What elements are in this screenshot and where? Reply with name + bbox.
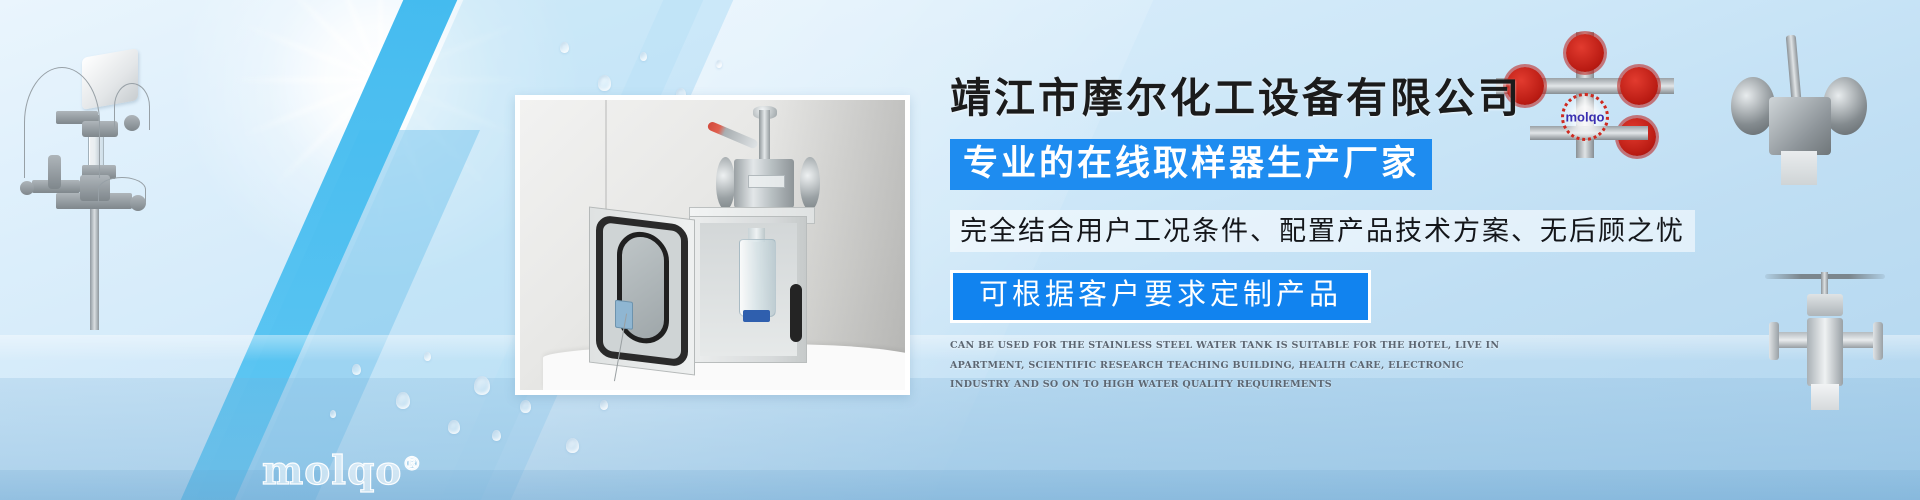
water-droplet [566,438,579,453]
water-droplet [598,75,611,91]
red-handwheel-icon [1566,34,1604,72]
water-droplet [424,352,431,361]
water-droplet [330,410,336,418]
diagonal-stripe-mid [151,130,480,500]
headline-badge: 专业的在线取样器生产厂家 [950,139,1432,190]
water-droplet [448,420,460,434]
diagonal-stripe-accent [145,0,484,500]
product-photo [515,95,910,395]
subheadline: 完全结合用户工况条件、配置产品技术方案、无后顾之忧 [950,210,1695,252]
product-banner: molqo 靖江市摩尔化工设备有限公司 专业的在线取样器生产厂家 完全结合用户工… [0,0,1920,500]
right-product-lever-valve [1705,25,1895,190]
photo-valve-assembly [709,106,825,222]
water-droplet [560,42,569,53]
banner-text-block: 靖江市摩尔化工设备有限公司 专业的在线取样器生产厂家 完全结合用户工况条件、配置… [950,78,1710,395]
water-droplet [396,392,410,409]
registered-mark-icon: ® [402,453,421,475]
water-droplet [716,60,722,68]
water-droplet [520,400,531,413]
water-droplet [352,364,361,375]
water-droplet [492,430,501,441]
company-name: 靖江市摩尔化工设备有限公司 [950,78,1710,119]
water-droplet [600,400,608,410]
english-description: CAN BE USED FOR THE STAINLESS STEEL WATE… [950,336,1525,394]
watermark-text: molqo [262,448,402,494]
water-droplet [640,52,647,61]
water-droplet [474,376,490,395]
left-product-sampling-assembly [10,25,170,325]
brand-watermark: molqo® [262,452,421,491]
custom-order-cta[interactable]: 可根据客户要求定制产品 [950,270,1371,323]
right-product-handwheel-valve [1765,270,1895,435]
red-handle-icon [706,120,759,149]
